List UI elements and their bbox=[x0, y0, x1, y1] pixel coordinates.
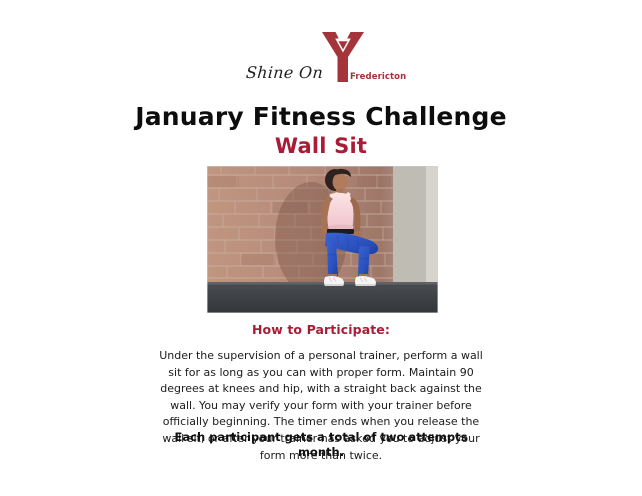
page-subtitle: Wall Sit bbox=[0, 134, 642, 158]
brand-logo-inner: Shine On Fredericton bbox=[246, 32, 396, 90]
shine-on-wordmark: Shine On bbox=[245, 63, 323, 82]
poster-page: Shine On Fredericton January Fitness bbox=[0, 0, 642, 496]
attempts-note: Each participant gets a total of two att… bbox=[156, 430, 486, 460]
brand-logo: Shine On Fredericton bbox=[0, 30, 642, 90]
wall-sit-photo bbox=[207, 166, 438, 313]
how-to-participate-heading: How to Participate: bbox=[0, 322, 642, 337]
logo-location-label: Fredericton bbox=[350, 72, 406, 82]
page-title: January Fitness Challenge bbox=[0, 102, 642, 131]
